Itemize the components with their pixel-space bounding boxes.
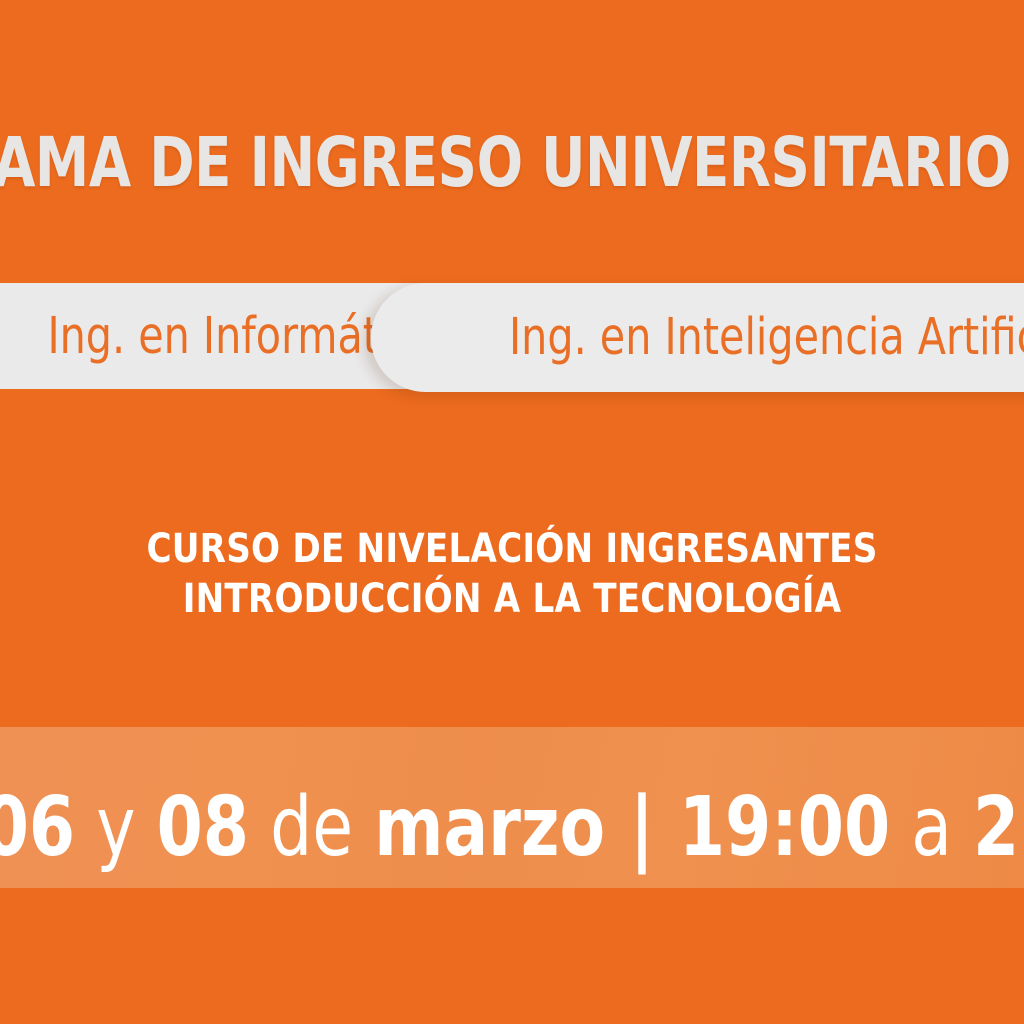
tab-ing-en-inteligencia-artificial[interactable]: Ing. en Inteligencia Artificial bbox=[371, 283, 1024, 392]
poster-canvas: PROGRAMA DE INGRESO UNIVERSITARIO Ing. e… bbox=[0, 0, 1024, 1024]
date-conjunction: y bbox=[96, 780, 156, 875]
date-value: 04, 06 y 08 de marzo | 19:00 a 21:00 bbox=[0, 787, 1024, 869]
page-title: PROGRAMA DE INGRESO UNIVERSITARIO bbox=[0, 129, 1011, 198]
poster-title: PROGRAMA DE INGRESO UNIVERSITARIO bbox=[0, 118, 1024, 208]
date-preposition: de bbox=[270, 780, 374, 875]
course-heading: CURSO DE NIVELACIÓN INGRESANTES INTRODUC… bbox=[0, 524, 1024, 624]
date-month: marzo bbox=[374, 780, 605, 875]
time-end: 21:00 bbox=[973, 780, 1024, 875]
time-start: 19:00 bbox=[679, 780, 890, 875]
program-tabs: Ing. en Informática Ing. en Inteligencia… bbox=[0, 283, 1024, 389]
course-heading-line-1: CURSO DE NIVELACIÓN INGRESANTES bbox=[26, 524, 999, 574]
time-join: a bbox=[911, 780, 973, 875]
course-heading-line-2: INTRODUCCIÓN A LA TECNOLOGÍA bbox=[26, 574, 999, 624]
date-day-last: 08 bbox=[157, 780, 249, 875]
date-days: 04, 06 bbox=[0, 780, 75, 875]
date-separator: | bbox=[626, 780, 657, 875]
date-band-content: FECHA 04, 06 y 08 de marzo | 19:00 a 21:… bbox=[0, 727, 1024, 888]
date-band: FECHA 04, 06 y 08 de marzo | 19:00 a 21:… bbox=[0, 727, 1024, 888]
tab-label: Ing. en Inteligencia Artificial bbox=[509, 308, 1024, 367]
